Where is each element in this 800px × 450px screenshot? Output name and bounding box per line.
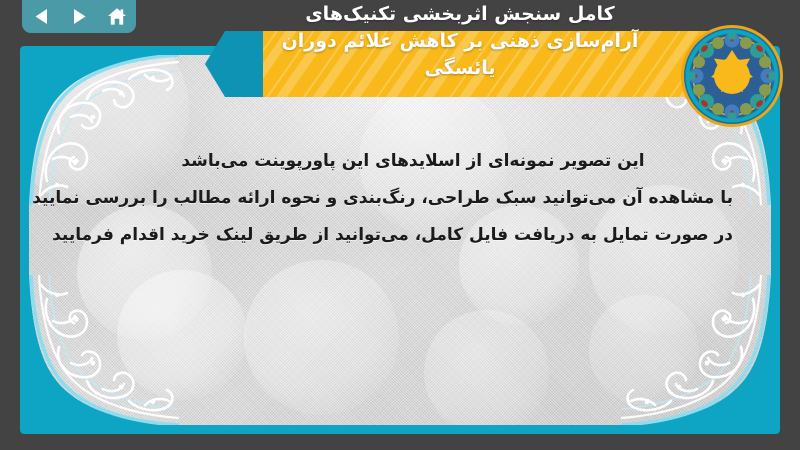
home-button[interactable] (104, 5, 130, 29)
slide-viewer: این تصویر نمونه‌ای از اسلایدهای این پاور… (0, 0, 800, 450)
arabesque-corner-bottom-right-icon (621, 275, 771, 425)
bokeh-circle (117, 270, 247, 400)
triangle-left-icon (34, 8, 49, 25)
back-button[interactable] (28, 5, 54, 29)
slide-body-text: این تصویر نمونه‌ای از اسلایدهای این پاور… (93, 143, 733, 254)
triangle-right-icon (72, 8, 87, 25)
slide-frame: این تصویر نمونه‌ای از اسلایدهای این پاور… (20, 46, 780, 434)
bokeh-circle (424, 310, 549, 425)
forward-button[interactable] (66, 5, 92, 29)
bokeh-circle (244, 260, 399, 415)
body-line-3: در صورت تمایل به دریافت فایل کامل، می‌تو… (93, 217, 733, 254)
title-line-1: کامل سنجش اثربخشی تکنیک‌های (250, 1, 670, 28)
body-line-2: با مشاهده آن می‌توانید سبک طراحی، رنگ‌بن… (93, 180, 733, 217)
bokeh-circle (589, 295, 699, 405)
slide-content-area: این تصویر نمونه‌ای از اسلایدهای این پاور… (29, 55, 771, 425)
arabesque-corner-bottom-left-icon (29, 275, 179, 425)
persian-medallion-ornament-icon (680, 24, 784, 128)
body-line-1: این تصویر نمونه‌ای از اسلایدهای این پاور… (93, 143, 733, 180)
navigation-bar (22, 0, 136, 33)
home-icon (107, 7, 127, 26)
